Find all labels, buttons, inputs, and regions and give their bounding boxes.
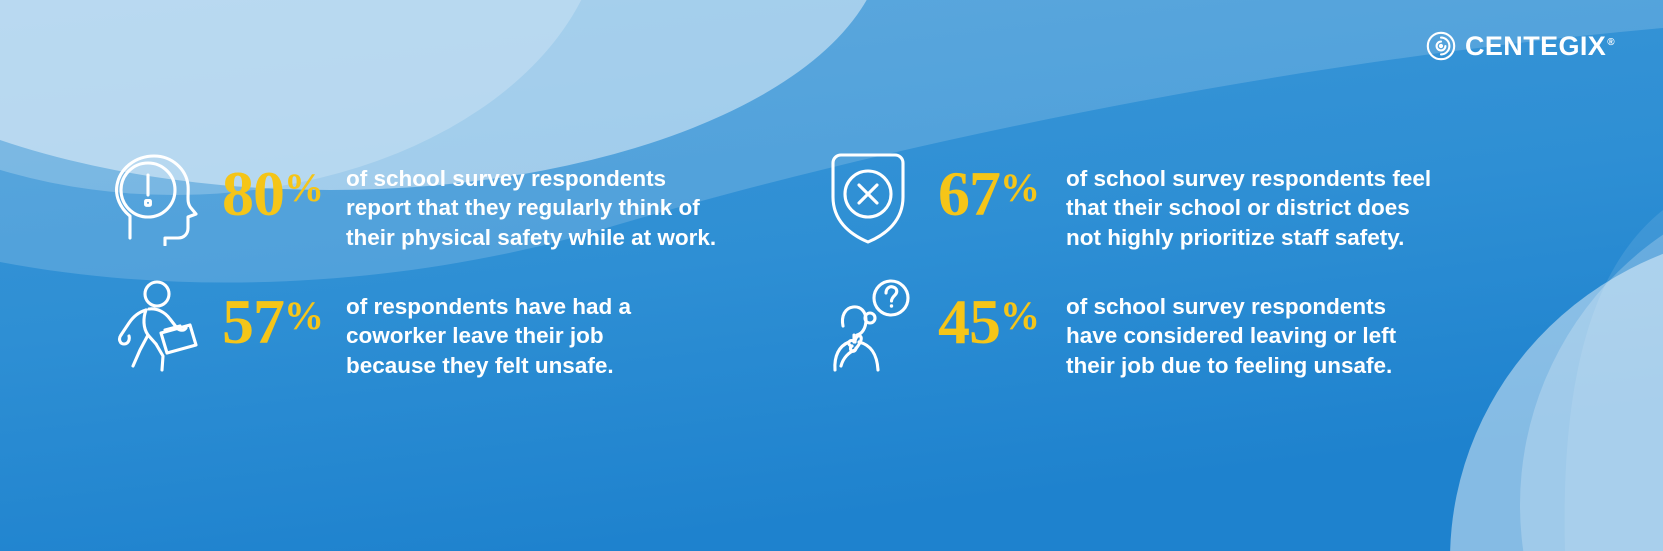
- stat-number-text: 57: [222, 286, 284, 357]
- stat-number-text: 80: [222, 158, 284, 229]
- percent-symbol: %: [1000, 293, 1040, 338]
- brand-logo[interactable]: CENTEGIX®: [1426, 31, 1615, 61]
- stats-grid: 80% of school survey respondents report …: [0, 148, 1663, 404]
- stat-number-text: 45: [938, 286, 1000, 357]
- stat-line: of school survey respondents: [346, 164, 810, 193]
- stat-line: have considered leaving or left: [1066, 321, 1520, 350]
- shield-with-x-icon: [814, 148, 922, 246]
- infographic-banner: CENTEGIX® 80%: [0, 0, 1663, 551]
- stat-value-67: 67%: [938, 148, 1040, 226]
- percent-symbol: %: [1000, 165, 1040, 210]
- stat-block-80: 80% of school survey respondents report …: [100, 148, 810, 276]
- stat-line: of school survey respondents feel: [1066, 164, 1520, 193]
- centegix-target-icon: [1426, 31, 1456, 61]
- stat-description-45: of school survey respondents have consid…: [1040, 276, 1520, 380]
- stat-description-57: of respondents have had a coworker leave…: [324, 276, 810, 380]
- stat-line: that their school or district does: [1066, 193, 1520, 222]
- stat-line: their job due to feeling unsafe.: [1066, 351, 1520, 380]
- stat-line: because they felt unsafe.: [346, 351, 810, 380]
- head-with-exclamation-icon: [100, 148, 208, 246]
- percent-symbol: %: [284, 165, 324, 210]
- stat-block-67: 67% of school survey respondents feel th…: [810, 148, 1520, 276]
- stat-description-67: of school survey respondents feel that t…: [1040, 148, 1520, 252]
- brand-name: CENTEGIX®: [1465, 33, 1615, 60]
- trademark-symbol: ®: [1607, 37, 1615, 48]
- stat-block-45: 45% of school survey respondents have co…: [810, 276, 1520, 404]
- stat-line: report that they regularly think of: [346, 193, 810, 222]
- stat-value-57: 57%: [222, 276, 324, 354]
- stat-number-text: 67: [938, 158, 1000, 229]
- stat-value-45: 45%: [938, 276, 1040, 354]
- percent-symbol: %: [284, 293, 324, 338]
- person-thinking-question-icon: [814, 276, 922, 374]
- stat-block-57: 57% of respondents have had a coworker l…: [100, 276, 810, 404]
- stat-line: coworker leave their job: [346, 321, 810, 350]
- stat-line: their physical safety while at work.: [346, 223, 810, 252]
- stat-line: of school survey respondents: [1066, 292, 1520, 321]
- stat-line: of respondents have had a: [346, 292, 810, 321]
- brand-name-text: CENTEGIX: [1465, 31, 1606, 61]
- running-person-with-briefcase-icon: [100, 276, 208, 374]
- stat-description-80: of school survey respondents report that…: [324, 148, 810, 252]
- stat-value-80: 80%: [222, 148, 324, 226]
- stat-line: not highly prioritize staff safety.: [1066, 223, 1520, 252]
